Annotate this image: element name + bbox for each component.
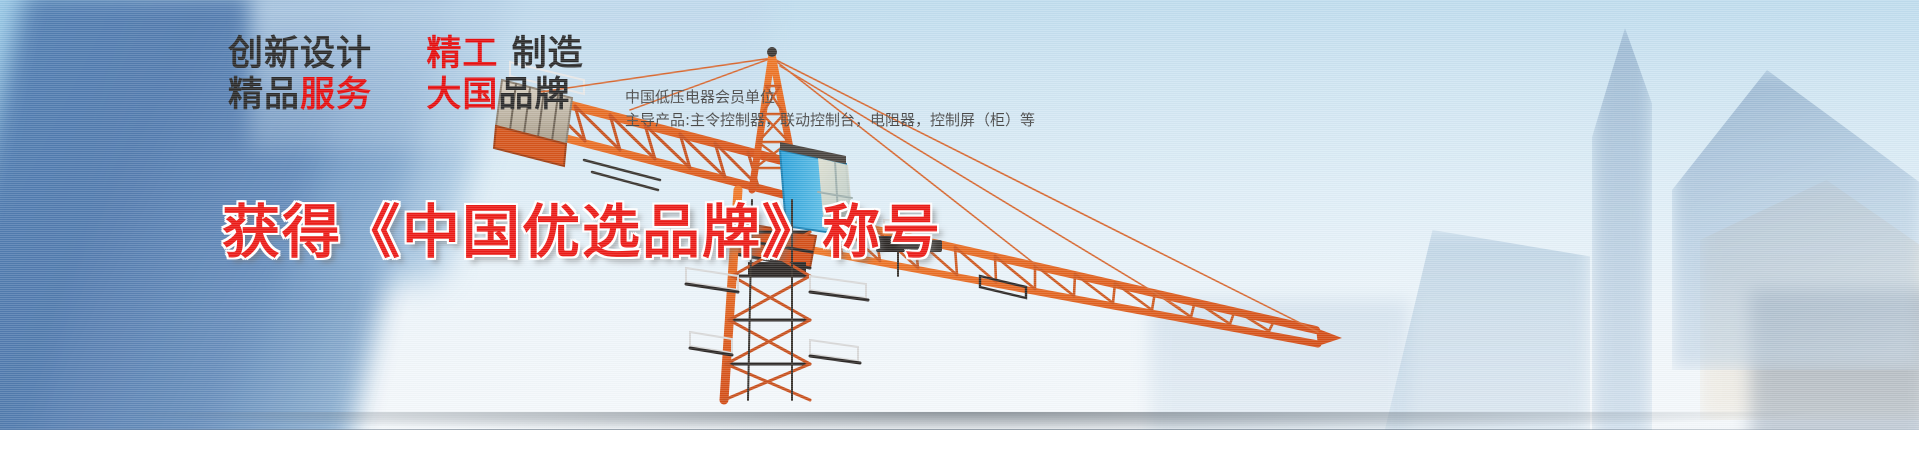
slogan-line1-red: 精工 xyxy=(426,34,498,74)
ground-white-strip xyxy=(0,430,1919,464)
slogan-line1-part2: 制造 xyxy=(512,34,584,74)
promo-banner: 创新设计 精工 制造 精品服务 大国品牌 中国低压电器会员单位 主导产品:主令控… xyxy=(0,0,1919,464)
slogan-line2-part1: 精品 xyxy=(228,75,300,115)
subtext-line-1: 中国低压电器会员单位 xyxy=(625,86,1035,109)
slogan-line-2: 精品服务 大国品牌 xyxy=(228,77,584,114)
slogan-line2-red2: 大国 xyxy=(426,75,498,115)
crane-mast-platforms xyxy=(686,268,868,363)
slogan-line2-red1: 服务 xyxy=(300,75,372,115)
headline-award: 获得《中国优选品牌》称号 xyxy=(222,185,942,269)
slogan-line2-part2: 品牌 xyxy=(498,75,570,115)
slogan-block: 创新设计 精工 制造 精品服务 大国品牌 xyxy=(228,36,584,118)
slogan-line-1: 创新设计 精工 制造 xyxy=(228,36,584,73)
subtext-line-2: 主导产品:主令控制器，联动控制台，电阻器，控制屏（柜）等 xyxy=(625,109,1035,132)
company-subtext: 中国低压电器会员单位 主导产品:主令控制器，联动控制台，电阻器，控制屏（柜）等 xyxy=(625,86,1035,133)
slogan-line1-part1: 创新设计 xyxy=(228,34,372,74)
